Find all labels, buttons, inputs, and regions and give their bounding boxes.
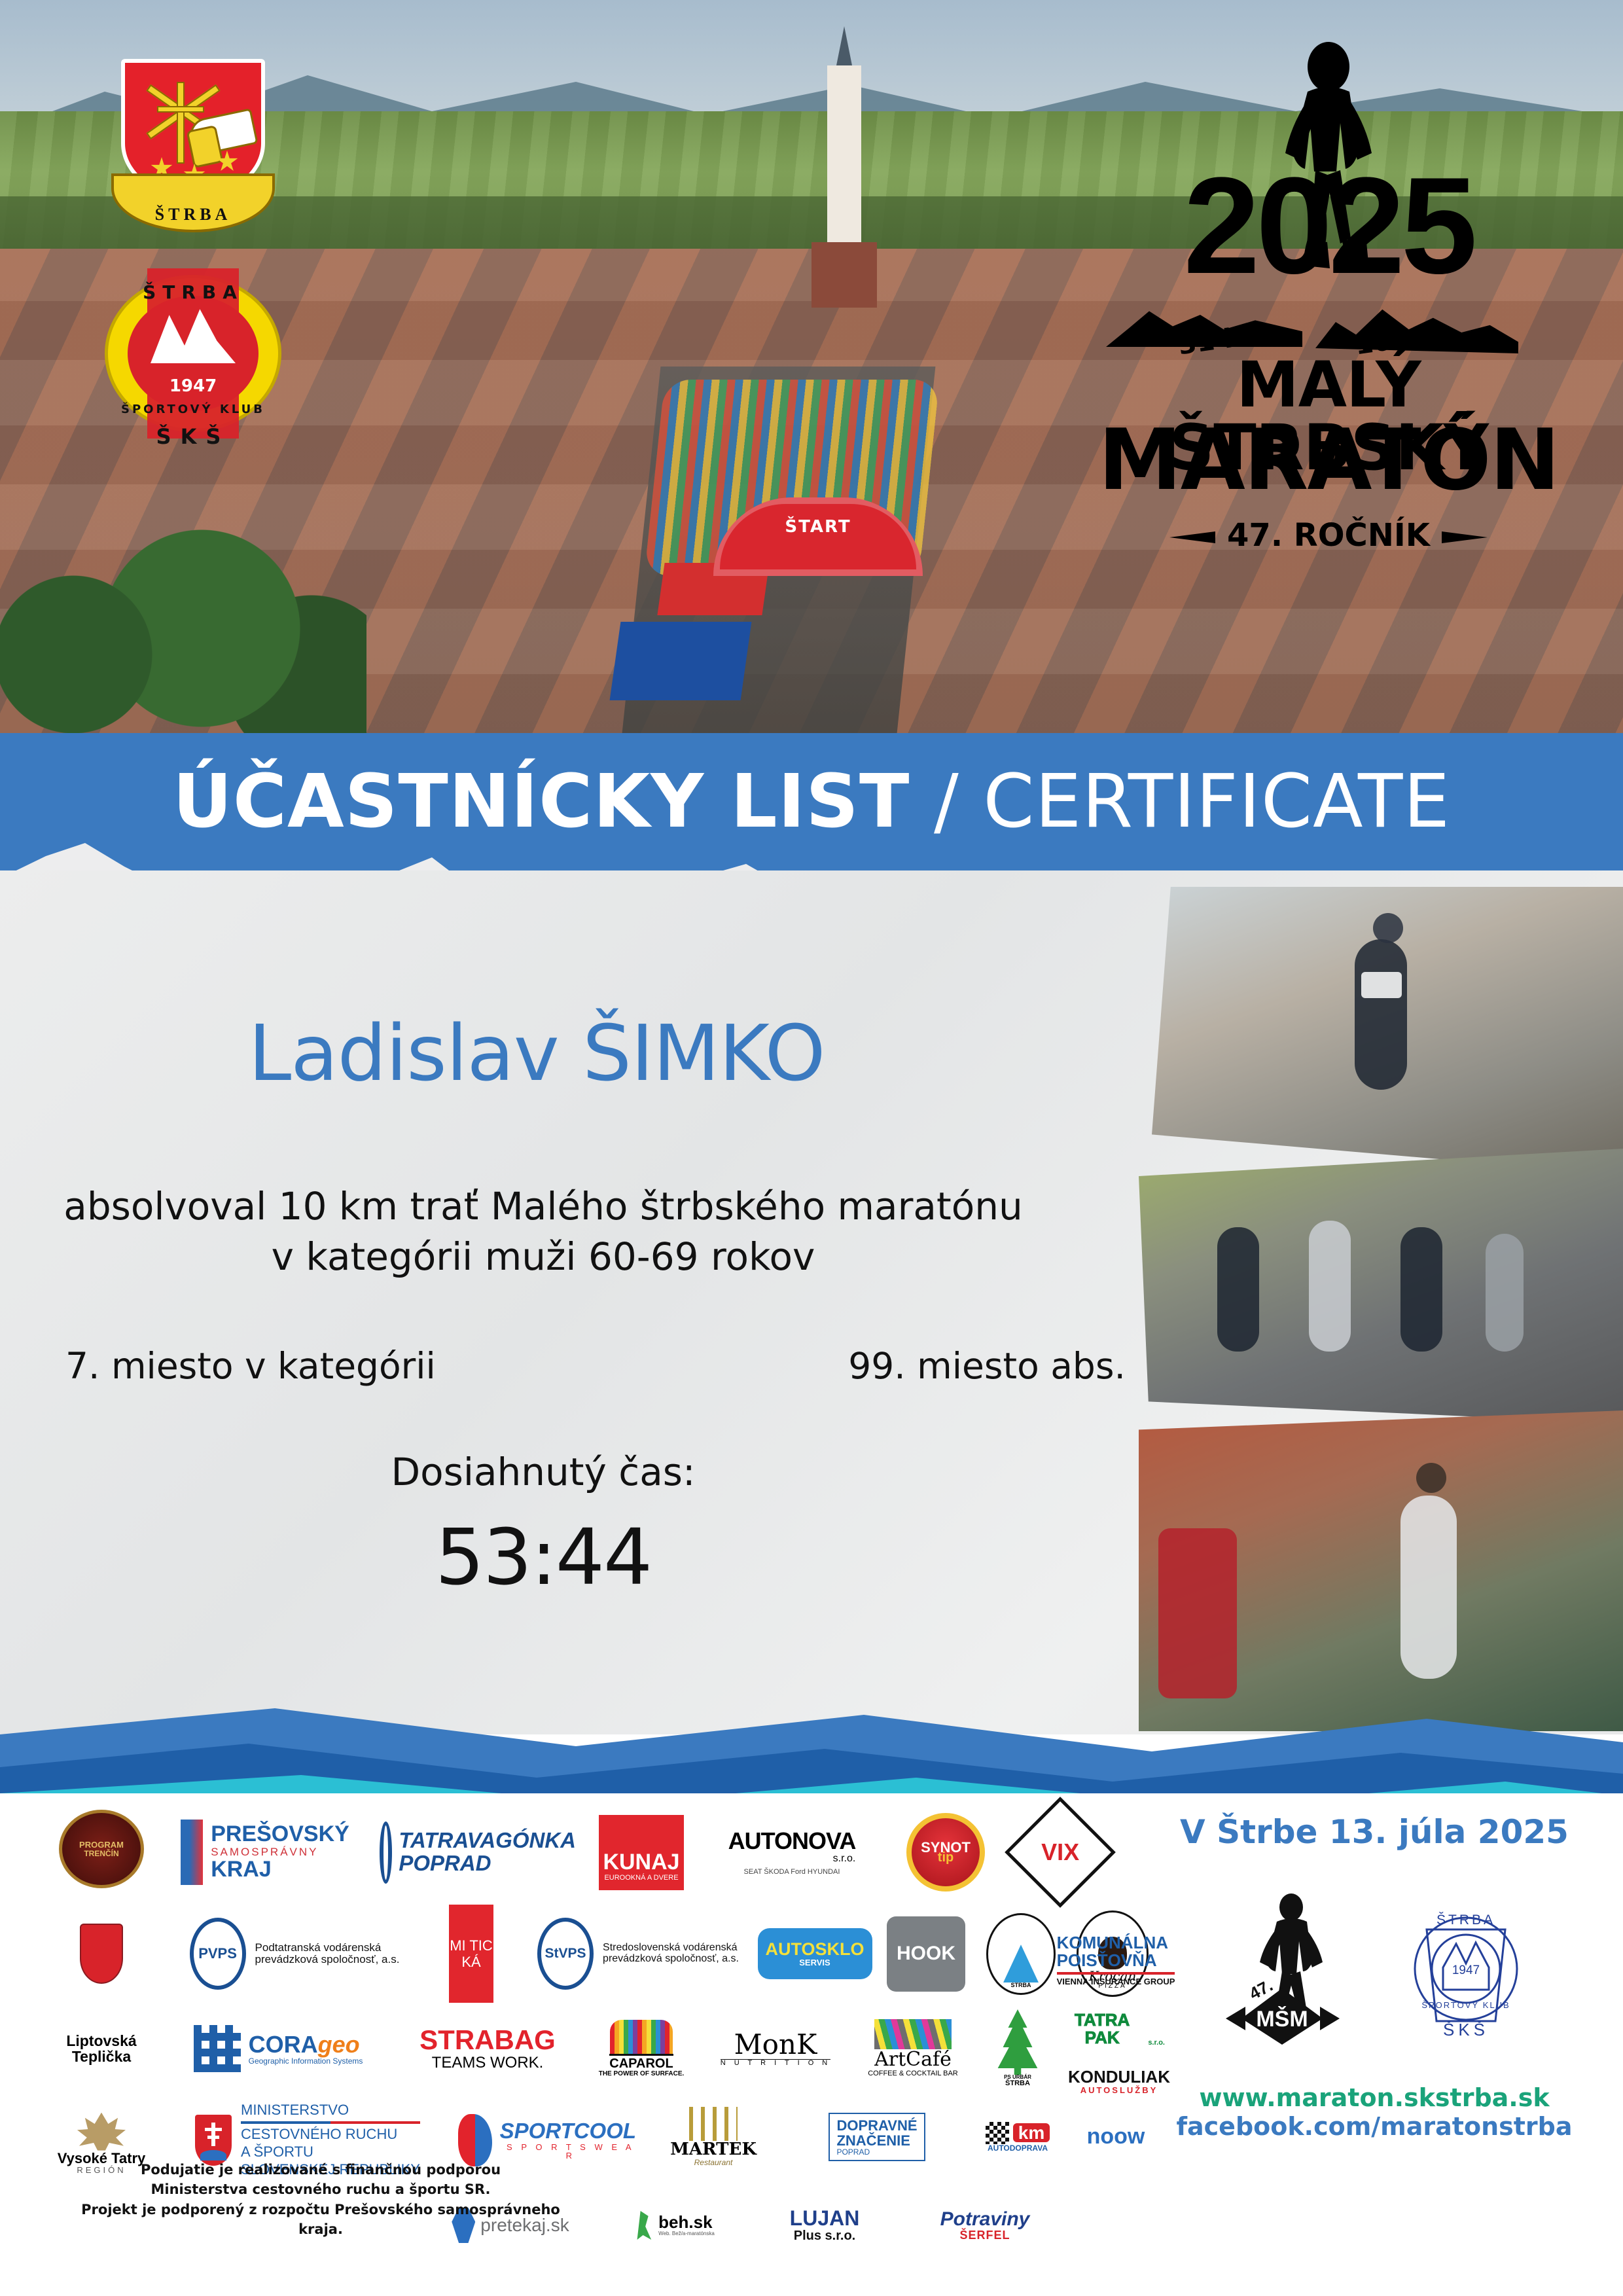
checkered-flag-icon	[986, 2122, 1009, 2144]
sponsor-autosklo-servis: AUTOSKLO SERVIS	[753, 1914, 877, 1993]
event-edition: 47. ROČNÍK	[1080, 517, 1577, 554]
finish-time: 53:44	[183, 1512, 903, 1602]
liptovska-crest-icon	[80, 1924, 123, 1984]
sks-stamp-ring: ŠPORTOVÝ KLUB	[1421, 2000, 1510, 2010]
certificate-description: absolvoval 10 km trať Malého štrbského m…	[0, 1181, 1086, 1282]
sponsors-section: PROGRAM TRENČÍN PREŠOVSKÝ SAMOSPRÁVNY KR…	[0, 1793, 1623, 2296]
stvps-mark-icon: StVPS	[537, 1918, 594, 1990]
photo-collage	[1139, 887, 1623, 1731]
sks-stamp-abbrev: ŠKŠ	[1443, 2020, 1489, 2039]
sponsor-hook: HOOK	[877, 1911, 975, 1996]
sponsor-synottip: SYNOT tip	[890, 1810, 1001, 1895]
sponsor-liptovska-teplicka	[39, 1908, 164, 2000]
msm-abbrev-text: MŠM	[1256, 2006, 1308, 2032]
sponsor-autonova: AUTONOVA s.r.o. SEAT ŠKODA Ford HYUNDAI	[700, 1810, 883, 1895]
sks-stamp-icon: ŠTRBA 1947 ŠPORTOVÝ KLUB ŠKŠ	[1397, 1890, 1535, 2047]
club-bottom-text: ŠPORTOVÝ KLUB	[98, 403, 288, 416]
event-year: 2025	[1080, 157, 1577, 295]
sponsor-liptovska-teplicka-label: Liptovská Teplička	[39, 2016, 164, 2081]
event-date: V Štrbe 13. júla 2025	[1152, 1813, 1597, 1851]
website-link[interactable]: www.maraton.skstrba.sk	[1152, 2083, 1597, 2112]
sponsor-miticka: MI TIC KÁ	[432, 1901, 510, 2006]
msm-runner-icon: 47. MŠM	[1214, 1890, 1351, 2047]
sponsor-potraviny-serfel: Potraviny ŠERFEL	[903, 2196, 1067, 2255]
caparol-elephant-icon	[610, 2020, 673, 2054]
foreground-trees	[0, 471, 366, 733]
slovak-coat-of-arms-icon	[195, 2115, 232, 2166]
sponsor-martek-restaurant: MARTEK Restaurant	[648, 2094, 779, 2179]
photo-group-runners	[1139, 1149, 1623, 1424]
sponsor-artcafe: ArtCafé COFFEE & COCKTAIL BAR	[851, 2006, 975, 2091]
crest-label: ŠTRBA	[114, 205, 272, 224]
public-support-note: Podujatie je realizované s finančnou pod…	[59, 2160, 582, 2240]
strba-village-crest: ŠTRBA	[111, 59, 275, 255]
club-abbrev: ŠKŠ	[98, 424, 288, 449]
sport-club-logo: ŠTRBA 1947 ŠPORTOVÝ KLUB ŠKŠ	[98, 255, 288, 452]
footer-logos: 47. MŠM ŠTRBA 1947 ŠPORTOVÝ KLUB ŠKŠ	[1152, 1890, 1597, 2047]
sponsor-program-trencin: PROGRAM TRENČÍN	[39, 1806, 164, 1892]
event-name-line2: MARATÓN	[1080, 419, 1577, 503]
cutlery-icon	[689, 2107, 738, 2141]
club-top-text: ŠTRBA	[98, 281, 288, 303]
psk-mark-icon	[181, 1820, 203, 1885]
sponsor-strabag: STRABAG TEAMS WORK.	[406, 2013, 569, 2085]
time-label: Dosiahnutý čas:	[183, 1450, 903, 1494]
sks-stamp-year: 1947	[1452, 1964, 1480, 1977]
page-title: ÚČASTNÍCKY LIST / CERTIFICATE	[173, 759, 1450, 844]
sponsor-ps-urbar-strba: PS URBÁR ŠTRBA	[975, 2003, 1060, 2094]
sponsor-corageo: CORAgeo Geographic Information Systems	[170, 2013, 386, 2085]
sponsor-pvps: PVPS Podtatranská vodárenská prevádzková…	[170, 1908, 419, 2000]
title-en: CERTIFICATE	[983, 759, 1450, 844]
title-separator: /	[910, 759, 983, 844]
sponsor-kunaj: KUNAJ EUROOKNÁ A DVERE	[589, 1813, 694, 1892]
edelweiss-icon	[77, 2113, 126, 2151]
facebook-link[interactable]: facebook.com/maratonstrba	[1152, 2112, 1597, 2141]
church	[805, 26, 883, 301]
sponsor-monk-nutrition: MonK N U T R I T I O N	[707, 2013, 844, 2085]
ministry-rule	[241, 2121, 420, 2124]
event-logo: 2025 31 km 10 km MALÝ ŠTRBSKÝ MARATÓN 47…	[1080, 39, 1577, 596]
sponsor-caparol: CAPAROL THE POWER OF SURFACE.	[582, 2009, 700, 2088]
tatravagonka-mark-icon	[380, 1821, 392, 1884]
description-line-2: v kategórii muži 60-69 rokov	[0, 1232, 1086, 1282]
photo-female-finisher	[1152, 887, 1623, 1175]
title-sk: ÚČASTNÍCKY LIST	[173, 759, 910, 844]
sponsor-lujan-plus: LUJAN Plus s.r.o.	[759, 2196, 890, 2255]
arrow-right-icon	[1442, 531, 1488, 543]
support-line-3: Projekt je podporený z rozpočtu Prešovsk…	[59, 2200, 582, 2240]
hero-photo: ŠTART ŠTRBA ŠTRBA 1947 ŠPORTOVÝ KLUB ŠKŠ	[0, 0, 1623, 733]
sks-stamp-top: ŠTRBA	[1436, 1912, 1495, 1928]
description-line-1: absolvoval 10 km trať Malého štrbského m…	[0, 1181, 1086, 1232]
beh-runner-icon	[633, 2211, 653, 2240]
sponsor-tatrapak: TATRA PAK s.r.o.	[1060, 2003, 1165, 2055]
sponsor-behsk: beh.sk Web. Bež/a-maratónska	[609, 2199, 740, 2251]
club-year: 1947	[98, 376, 288, 396]
pd-water-icon	[1003, 1945, 1039, 1982]
corageo-grid-icon	[194, 2025, 241, 2072]
sponsor-vix: VIX	[1008, 1810, 1113, 1895]
sponsor-presovsky-kraj: PREŠOVSKÝ SAMOSPRÁVNY KRAJ	[170, 1813, 360, 1892]
participant-name: Ladislav ŠIMKO	[0, 1008, 1073, 1098]
placements: 7. miesto v kategórii 99. miesto abs.	[65, 1345, 1126, 1387]
support-line-1: Podujatie je realizované s finančnou pod…	[59, 2160, 582, 2179]
tent-blue	[610, 622, 752, 700]
msm-logo: 47. MŠM	[1214, 1890, 1351, 2047]
sponsor-stvps: StVPS Stredoslovenská vodárenská prevádz…	[517, 1908, 759, 2000]
photo-finish-line	[1139, 1410, 1623, 1731]
footer-right-column: V Štrbe 13. júla 2025	[1152, 1793, 1597, 2291]
pvps-mark-icon: PVPS	[190, 1918, 246, 1990]
sportcool-mark-icon	[458, 2114, 492, 2166]
artcafe-mark-icon	[874, 2019, 952, 2049]
spruce-tree-icon	[996, 2009, 1039, 2075]
support-line-2: Ministerstva cestovného ruchu a športu S…	[59, 2179, 582, 2199]
place-absolute: 99. miesto abs.	[848, 1345, 1126, 1387]
place-in-category: 7. miesto v kategórii	[65, 1345, 436, 1387]
sks-stamp-logo: ŠTRBA 1947 ŠPORTOVÝ KLUB ŠKŠ	[1397, 1890, 1535, 2047]
sponsor-tatravagonka-poprad: TATRAVAGÓNKA POPRAD	[380, 1813, 576, 1892]
arrow-left-icon	[1169, 531, 1215, 543]
